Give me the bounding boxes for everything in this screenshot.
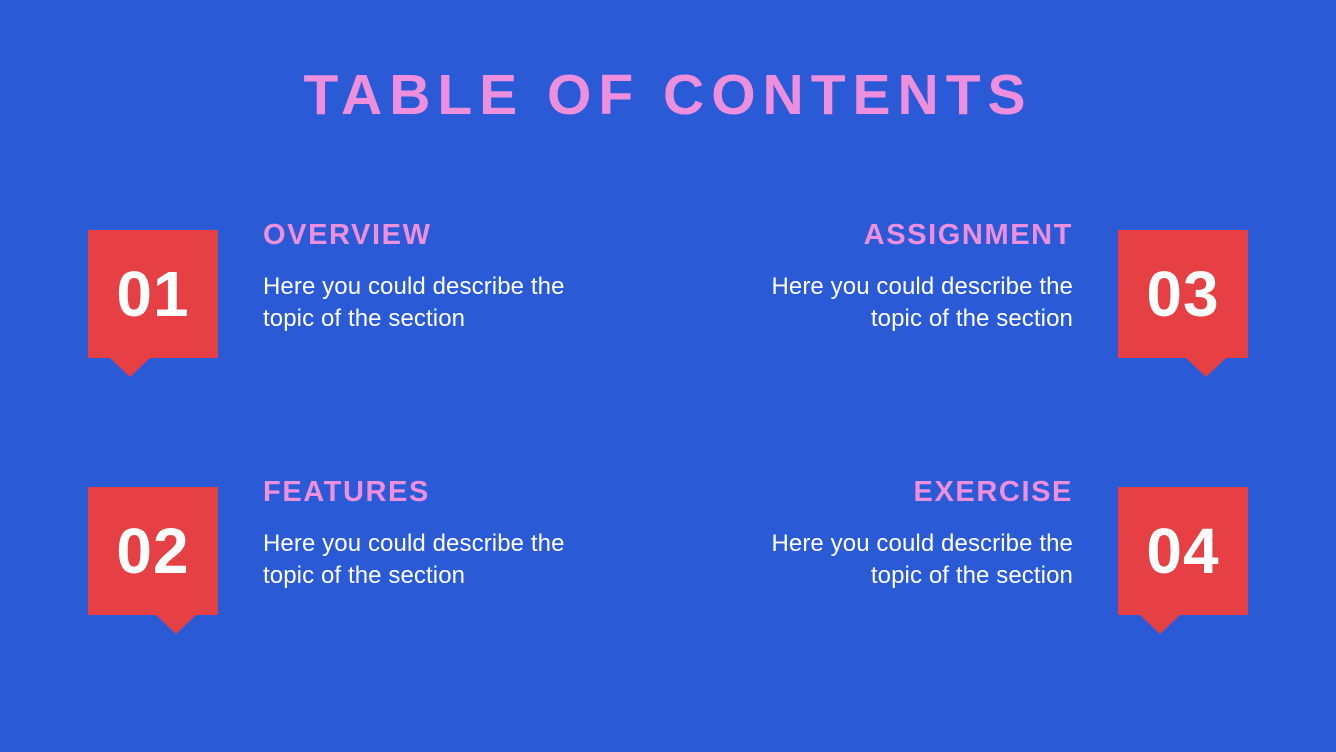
badge-number-label: 02 [116, 519, 189, 583]
badge-pointer-icon [156, 615, 196, 634]
number-badge-04: 04 [1118, 487, 1248, 615]
toc-entry-02[interactable]: 02 FEATURES Here you could describe the … [88, 477, 636, 667]
toc-entry-01[interactable]: 01 OVERVIEW Here you could describe the … [88, 220, 636, 410]
toc-entry-text-01: OVERVIEW Here you could describe the top… [218, 220, 636, 334]
number-badge-01: 01 [88, 230, 218, 358]
slide-canvas: TABLE OF CONTENTS 01 OVERVIEW Here you c… [0, 0, 1336, 752]
toc-heading-features: FEATURES [263, 477, 636, 509]
toc-body-overview: Here you could describe the topic of the… [263, 271, 593, 334]
toc-entry-text-03: ASSIGNMENT Here you could describe the t… [700, 220, 1118, 334]
toc-heading-overview: OVERVIEW [263, 220, 636, 252]
number-badge-02: 02 [88, 487, 218, 615]
badge-number-label: 03 [1146, 262, 1219, 326]
badge-pointer-icon [1186, 358, 1226, 377]
toc-body-assignment: Here you could describe the topic of the… [743, 271, 1073, 334]
contents-grid: 01 OVERVIEW Here you could describe the … [0, 206, 1336, 676]
toc-heading-exercise: EXERCISE [700, 477, 1073, 509]
toc-entry-text-02: FEATURES Here you could describe the top… [218, 477, 636, 591]
toc-entry-text-04: EXERCISE Here you could describe the top… [700, 477, 1118, 591]
toc-body-features: Here you could describe the topic of the… [263, 528, 593, 591]
toc-body-exercise: Here you could describe the topic of the… [743, 528, 1073, 591]
badge-number-label: 01 [116, 262, 189, 326]
badge-pointer-icon [110, 358, 150, 377]
toc-entry-04[interactable]: 04 EXERCISE Here you could describe the … [700, 477, 1248, 667]
toc-heading-assignment: ASSIGNMENT [700, 220, 1073, 252]
badge-pointer-icon [1140, 615, 1180, 634]
toc-entry-03[interactable]: 03 ASSIGNMENT Here you could describe th… [700, 220, 1248, 410]
number-badge-03: 03 [1118, 230, 1248, 358]
badge-number-label: 04 [1146, 519, 1219, 583]
page-title: TABLE OF CONTENTS [0, 64, 1336, 127]
